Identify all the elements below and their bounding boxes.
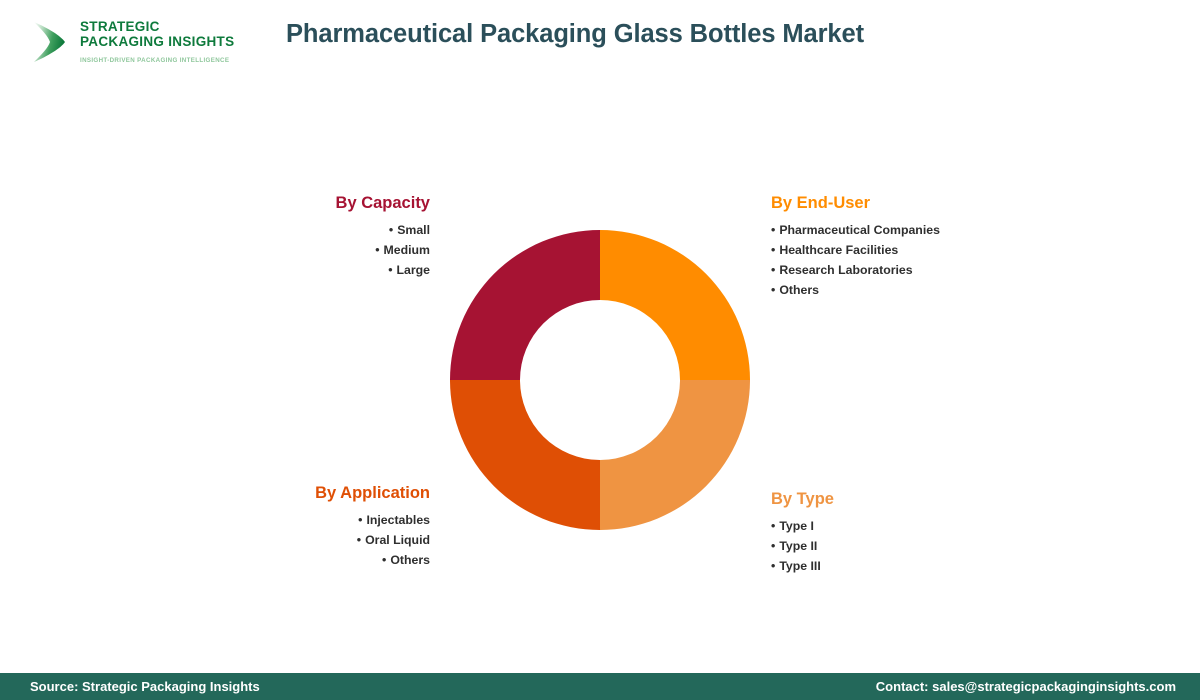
list-item-label: Oral Liquid [365, 533, 430, 547]
bullet-icon: • [771, 260, 775, 280]
segment-by-type: By Type •Type I •Type II •Type III [771, 489, 931, 576]
list-item-label: Healthcare Facilities [779, 243, 898, 257]
list-item: •Injectables [280, 510, 430, 530]
segment-by-capacity: By Capacity •Small •Medium •Large [300, 193, 430, 280]
list-item: •Small [300, 220, 430, 240]
logo-wordmark: STRATEGIC PACKAGING INSIGHTS INSIGHT-DRI… [80, 20, 230, 64]
segment-by-application: By Application •Injectables •Oral Liquid… [280, 483, 430, 570]
list-item: •Type II [771, 536, 931, 556]
bullet-icon: • [389, 220, 393, 240]
list-item: •Oral Liquid [280, 530, 430, 550]
list-item-label: Type I [779, 519, 814, 533]
donut-chart [450, 230, 750, 530]
logo-line-1: STRATEGIC [80, 20, 230, 35]
infographic-page: STRATEGIC PACKAGING INSIGHTS INSIGHT-DRI… [0, 0, 1200, 700]
list-item: •Others [280, 550, 430, 570]
logo-tagline: INSIGHT-DRIVEN PACKAGING INTELLIGENCE [80, 57, 230, 64]
segment-by-capacity-list: •Small •Medium •Large [300, 220, 430, 280]
bullet-icon: • [771, 556, 775, 576]
list-item-label: Research Laboratories [779, 263, 912, 277]
list-item: •Pharmaceutical Companies [771, 220, 1001, 240]
bullet-icon: • [771, 240, 775, 260]
bullet-icon: • [771, 536, 775, 556]
page-title: Pharmaceutical Packaging Glass Bottles M… [286, 20, 864, 49]
green-chevron-arrow-icon [28, 18, 70, 66]
list-item-label: Small [397, 223, 430, 237]
footer-source: Source: Strategic Packaging Insights [30, 679, 260, 694]
list-item-label: Medium [384, 243, 430, 257]
bullet-icon: • [357, 530, 361, 550]
segment-by-capacity-heading: By Capacity [300, 193, 430, 213]
bullet-icon: • [771, 280, 775, 300]
logo-line-2: PACKAGING INSIGHTS [80, 35, 230, 50]
list-item: •Type I [771, 516, 931, 536]
brand-logo: STRATEGIC PACKAGING INSIGHTS INSIGHT-DRI… [28, 16, 228, 74]
bullet-icon: • [375, 240, 379, 260]
list-item-label: Others [779, 283, 819, 297]
segment-by-application-heading: By Application [280, 483, 430, 503]
bullet-icon: • [771, 516, 775, 536]
segment-by-application-list: •Injectables •Oral Liquid •Others [280, 510, 430, 570]
bullet-icon: • [771, 220, 775, 240]
list-item-label: Type II [779, 539, 817, 553]
list-item: •Others [771, 280, 1001, 300]
bullet-icon: • [358, 510, 362, 530]
segment-by-end-user: By End-User •Pharmaceutical Companies •H… [771, 193, 1001, 300]
segment-by-type-list: •Type I •Type II •Type III [771, 516, 931, 576]
footer-contact[interactable]: Contact: sales@strategicpackaginginsight… [876, 679, 1176, 694]
footer-bar: Source: Strategic Packaging Insights Con… [0, 673, 1200, 700]
list-item: •Research Laboratories [771, 260, 1001, 280]
donut-slice-type [600, 380, 750, 530]
donut-slice-capacity [450, 230, 600, 380]
donut-slice-end-user [600, 230, 750, 380]
donut-chart-svg [450, 230, 750, 530]
list-item-label: Others [390, 553, 430, 567]
list-item: •Medium [300, 240, 430, 260]
segment-by-type-heading: By Type [771, 489, 931, 509]
bullet-icon: • [388, 260, 392, 280]
bullet-icon: • [382, 550, 386, 570]
donut-slice-application [450, 380, 600, 530]
list-item: •Large [300, 260, 430, 280]
list-item: •Type III [771, 556, 931, 576]
list-item: •Healthcare Facilities [771, 240, 1001, 260]
list-item-label: Large [397, 263, 431, 277]
list-item-label: Pharmaceutical Companies [779, 223, 940, 237]
list-item-label: Type III [779, 559, 820, 573]
list-item-label: Injectables [366, 513, 430, 527]
segment-by-end-user-heading: By End-User [771, 193, 1001, 213]
segment-by-end-user-list: •Pharmaceutical Companies •Healthcare Fa… [771, 220, 1001, 300]
